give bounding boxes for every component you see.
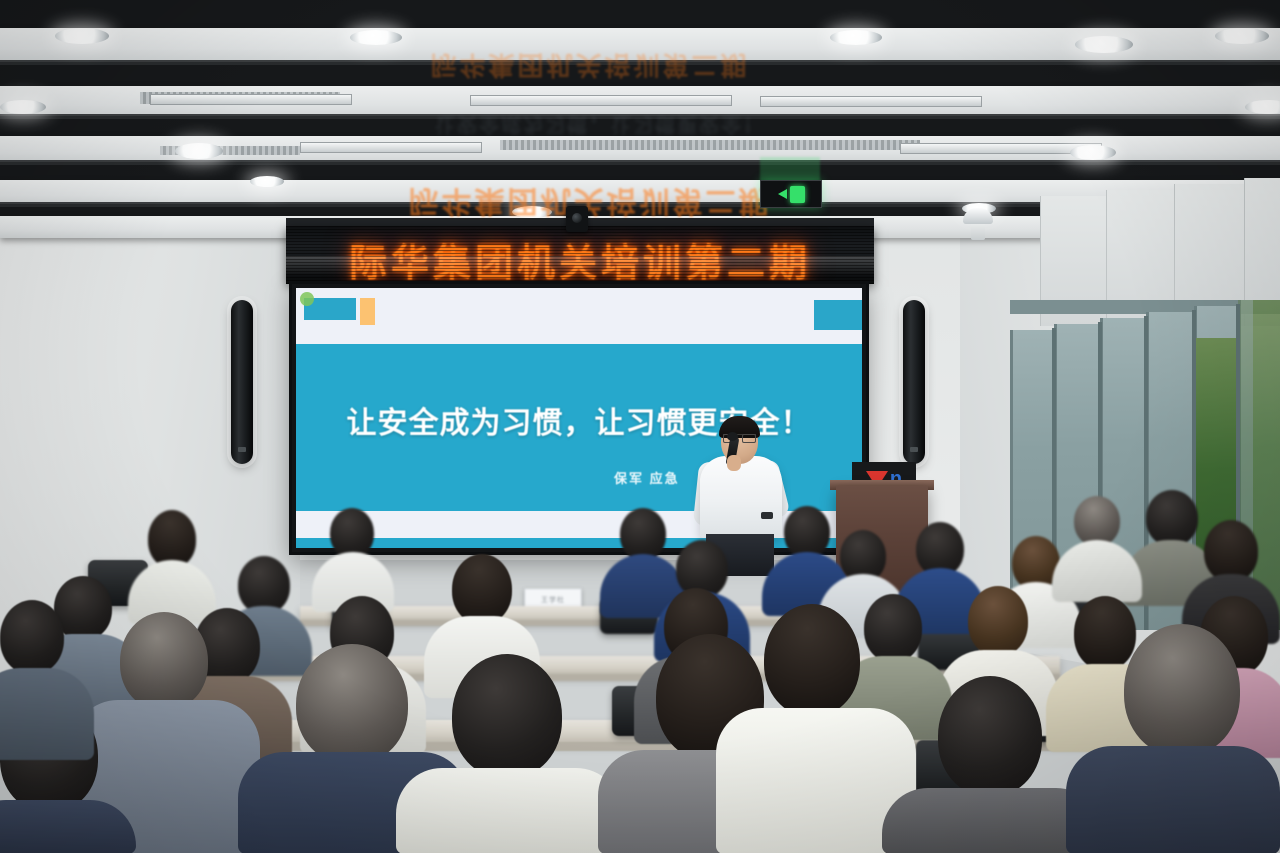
- led-banner: 际华集团机关培训第二期: [286, 226, 874, 284]
- wall-speaker-left: [231, 300, 253, 464]
- downlight: [175, 143, 223, 159]
- banner-camera-icon: [566, 206, 588, 232]
- slide-reflection: 让安全成为习惯，让习惯更安全！: [350, 112, 850, 141]
- exit-sign: [760, 180, 822, 208]
- downlight: [830, 30, 882, 45]
- presenter-shirt: [700, 456, 782, 538]
- slide-deco-teal-right: [814, 300, 862, 330]
- wall-speaker-right: [903, 300, 925, 464]
- slide-bottom-band: [296, 538, 862, 548]
- dome-camera-icon: [963, 208, 993, 224]
- exit-sign-reflection: [760, 157, 820, 181]
- exit-running-man-icon: [790, 186, 805, 203]
- camera-mount: [971, 222, 985, 240]
- slide-deco-dot: [300, 292, 314, 306]
- slide-subtitle: 保军 应急: [614, 468, 680, 487]
- nameplate-text: 王学杜: [541, 595, 565, 605]
- downlight: [1070, 145, 1116, 160]
- downlight: [1215, 28, 1269, 44]
- lecture-hall-photo: 际华集团机关培训第二期 际华集团机关培训第二期 让安全成为习惯，让习惯更安全！ …: [0, 0, 1280, 853]
- banner-reflection-upper: 际华集团机关培训第二期: [330, 48, 850, 85]
- downlight: [0, 100, 46, 114]
- downlight: [1075, 36, 1133, 53]
- downlight: [55, 28, 109, 44]
- downlight: [250, 176, 284, 187]
- downlight: [350, 30, 402, 45]
- exit-arrow-icon: [778, 189, 787, 199]
- slide-title: 让安全成为习惯，让习惯更安全！: [296, 398, 862, 442]
- slide-deco-orange: [360, 298, 375, 325]
